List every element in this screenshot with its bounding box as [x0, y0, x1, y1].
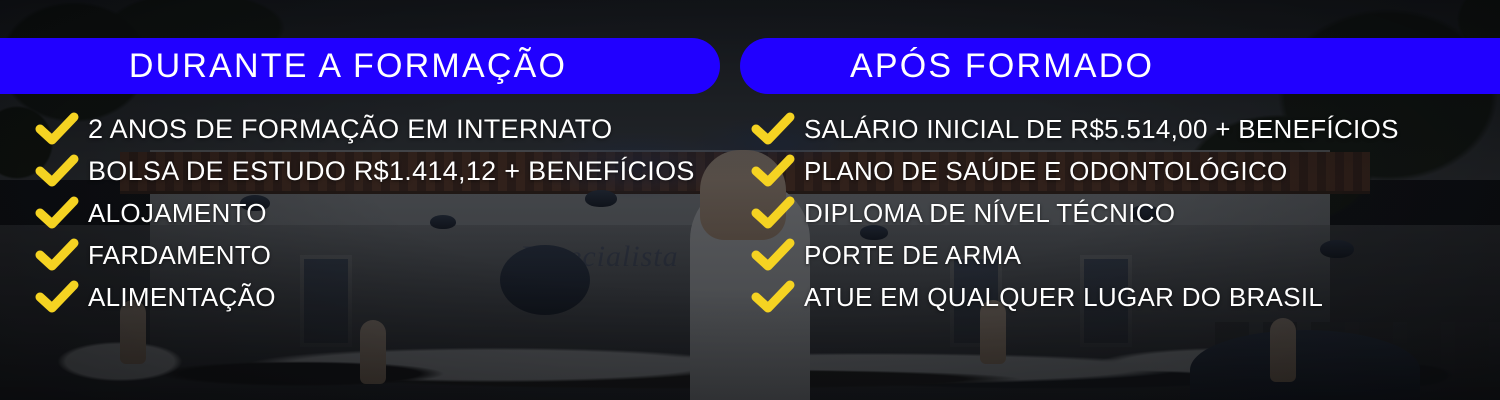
list-item: ALIMENTAÇÃO	[34, 276, 740, 318]
header-after-graduation: APÓS FORMADO	[740, 38, 1500, 94]
check-icon	[750, 238, 796, 272]
check-icon	[34, 280, 80, 314]
list-item-label: ALIMENTAÇÃO	[88, 284, 276, 310]
benefits-list-after: SALÁRIO INICIAL DE R$5.514,00 + BENEFÍCI…	[740, 108, 1500, 338]
check-icon	[750, 280, 796, 314]
list-item-label: PORTE DE ARMA	[804, 242, 1021, 268]
list-item-label: FARDAMENTO	[88, 242, 271, 268]
check-icon	[750, 112, 796, 146]
header-during-training-title: DURANTE A FORMAÇÃO	[129, 49, 567, 83]
list-item-label: BOLSA DE ESTUDO R$1.414,12 + BENEFÍCIOS	[88, 158, 695, 185]
list-item-label: SALÁRIO INICIAL DE R$5.514,00 + BENEFÍCI…	[804, 116, 1399, 142]
check-icon	[34, 112, 80, 146]
list-item: ALOJAMENTO	[34, 192, 740, 234]
benefits-list-during: 2 ANOS DE FORMAÇÃO EM INTERNATO BOLSA DE…	[0, 108, 740, 338]
promo-banner: Especialista DURANTE A FORMAÇÃO APÓS FOR…	[0, 0, 1500, 400]
list-item: SALÁRIO INICIAL DE R$5.514,00 + BENEFÍCI…	[750, 108, 1500, 150]
check-icon	[34, 196, 80, 230]
list-item: 2 ANOS DE FORMAÇÃO EM INTERNATO	[34, 108, 740, 150]
list-item-label: ALOJAMENTO	[88, 200, 267, 226]
check-icon	[34, 238, 80, 272]
list-item-label: PLANO DE SAÚDE E ODONTOLÓGICO	[804, 158, 1288, 184]
list-item: FARDAMENTO	[34, 234, 740, 276]
check-icon	[34, 154, 80, 188]
banner-headers: DURANTE A FORMAÇÃO APÓS FORMADO	[0, 38, 1500, 94]
check-icon	[750, 196, 796, 230]
list-item-label: 2 ANOS DE FORMAÇÃO EM INTERNATO	[88, 116, 612, 143]
list-item-label: DIPLOMA DE NÍVEL TÉCNICO	[804, 200, 1175, 226]
header-after-graduation-title: APÓS FORMADO	[850, 49, 1154, 83]
header-during-training: DURANTE A FORMAÇÃO	[0, 38, 720, 94]
check-icon	[750, 154, 796, 188]
list-item: PORTE DE ARMA	[750, 234, 1500, 276]
list-item: DIPLOMA DE NÍVEL TÉCNICO	[750, 192, 1500, 234]
benefit-columns: 2 ANOS DE FORMAÇÃO EM INTERNATO BOLSA DE…	[0, 108, 1500, 338]
list-item: BOLSA DE ESTUDO R$1.414,12 + BENEFÍCIOS	[34, 150, 740, 192]
list-item: PLANO DE SAÚDE E ODONTOLÓGICO	[750, 150, 1500, 192]
list-item: ATUE EM QUALQUER LUGAR DO BRASIL	[750, 276, 1500, 318]
list-item-label: ATUE EM QUALQUER LUGAR DO BRASIL	[804, 284, 1323, 310]
